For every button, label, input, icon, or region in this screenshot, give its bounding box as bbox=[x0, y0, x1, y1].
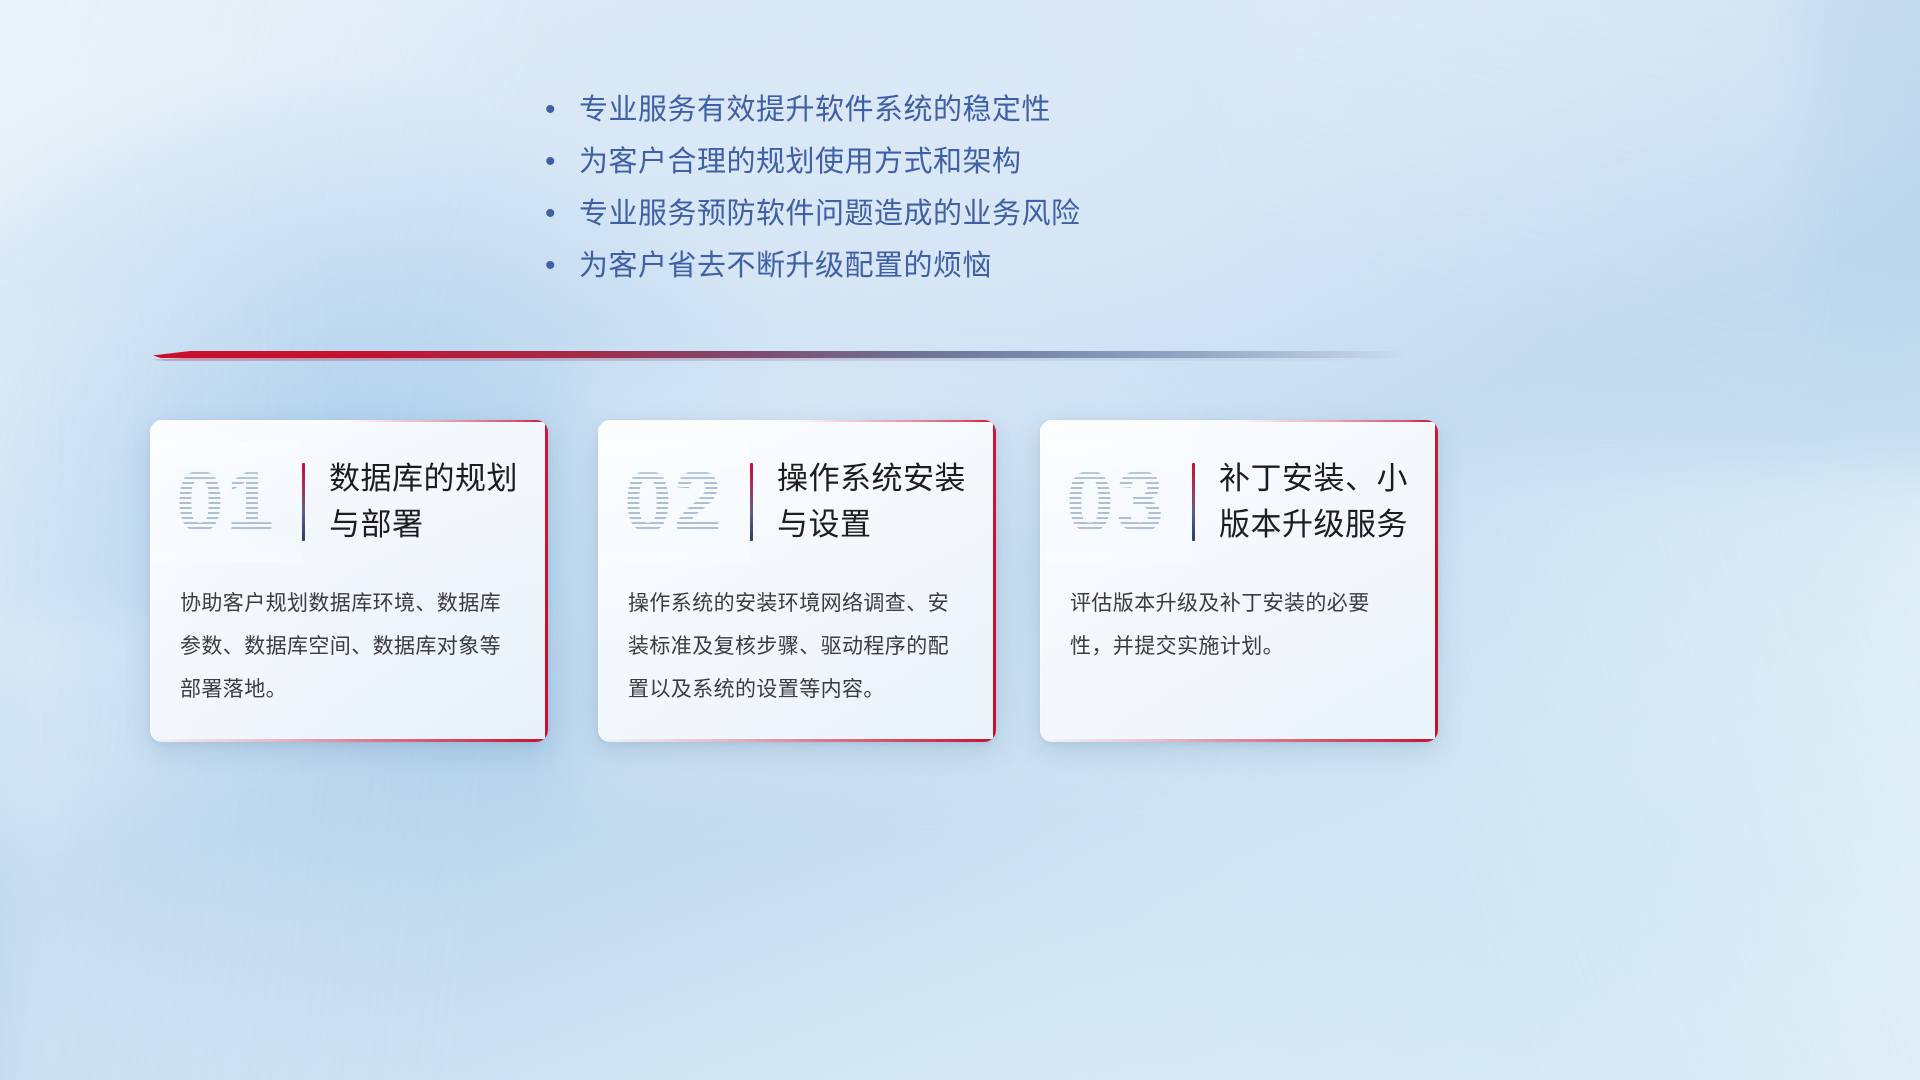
bullet-dot-icon: • bbox=[545, 147, 579, 177]
card-top-accent bbox=[150, 420, 548, 422]
card-number-watermark: 02 bbox=[598, 442, 750, 562]
service-card-list: 01 数据库的规划与部署 协助客户规划数据库环境、数据库参数、数据库空间、数据库… bbox=[150, 420, 1470, 750]
card-description: 操作系统的安装环境网络调查、安装标准及复核步骤、驱动程序的配置以及系统的设置等内… bbox=[628, 582, 970, 711]
card-top-accent bbox=[598, 420, 996, 422]
slide-content: • 专业服务有效提升软件系统的稳定性 • 为客户合理的规划使用方式和架构 • 专… bbox=[0, 0, 1920, 1080]
card-bottom-accent bbox=[598, 739, 996, 742]
service-card-02[interactable]: 02 操作系统安装与设置 操作系统的安装环境网络调查、安装标准及复核步骤、驱动程… bbox=[598, 420, 996, 742]
bullet-text: 为客户合理的规划使用方式和架构 bbox=[579, 138, 1022, 180]
bullet-dot-icon: • bbox=[545, 199, 579, 229]
card-header: 02 操作系统安装与设置 bbox=[598, 442, 996, 562]
card-description: 协助客户规划数据库环境、数据库参数、数据库空间、数据库对象等部署落地。 bbox=[180, 582, 522, 711]
card-title: 补丁安装、小版本升级服务 bbox=[1195, 456, 1438, 548]
service-card-01[interactable]: 01 数据库的规划与部署 协助客户规划数据库环境、数据库参数、数据库空间、数据库… bbox=[150, 420, 548, 742]
card-title: 操作系统安装与设置 bbox=[753, 456, 996, 548]
list-item: • 专业服务有效提升软件系统的稳定性 bbox=[545, 86, 1245, 138]
bullet-text: 专业服务有效提升软件系统的稳定性 bbox=[579, 86, 1051, 128]
divider-line-primary bbox=[153, 351, 1405, 358]
bullet-dot-icon: • bbox=[545, 251, 579, 281]
service-card-03[interactable]: 03 补丁安装、小版本升级服务 评估版本升级及补丁安装的必要性，并提交实施计划。 bbox=[1040, 420, 1438, 742]
card-bottom-accent bbox=[150, 739, 548, 742]
card-title: 数据库的规划与部署 bbox=[305, 456, 548, 548]
card-bottom-accent bbox=[1040, 739, 1438, 742]
card-header: 03 补丁安装、小版本升级服务 bbox=[1040, 442, 1438, 562]
card-number-watermark: 01 bbox=[150, 442, 302, 562]
list-item: • 专业服务预防软件问题造成的业务风险 bbox=[545, 190, 1245, 242]
bullet-dot-icon: • bbox=[545, 95, 579, 125]
card-description: 评估版本升级及补丁安装的必要性，并提交实施计划。 bbox=[1070, 582, 1412, 668]
card-header: 01 数据库的规划与部署 bbox=[150, 442, 548, 562]
bullet-text: 为客户省去不断升级配置的烦恼 bbox=[579, 242, 992, 284]
card-number-watermark: 03 bbox=[1040, 442, 1192, 562]
list-item: • 为客户合理的规划使用方式和架构 bbox=[545, 138, 1245, 190]
divider-line-shadow bbox=[153, 357, 1405, 361]
card-top-accent bbox=[1040, 420, 1438, 422]
section-divider bbox=[153, 348, 1405, 364]
benefits-bullet-list: • 专业服务有效提升软件系统的稳定性 • 为客户合理的规划使用方式和架构 • 专… bbox=[545, 86, 1245, 294]
bullet-text: 专业服务预防软件问题造成的业务风险 bbox=[579, 190, 1081, 232]
list-item: • 为客户省去不断升级配置的烦恼 bbox=[545, 242, 1245, 294]
